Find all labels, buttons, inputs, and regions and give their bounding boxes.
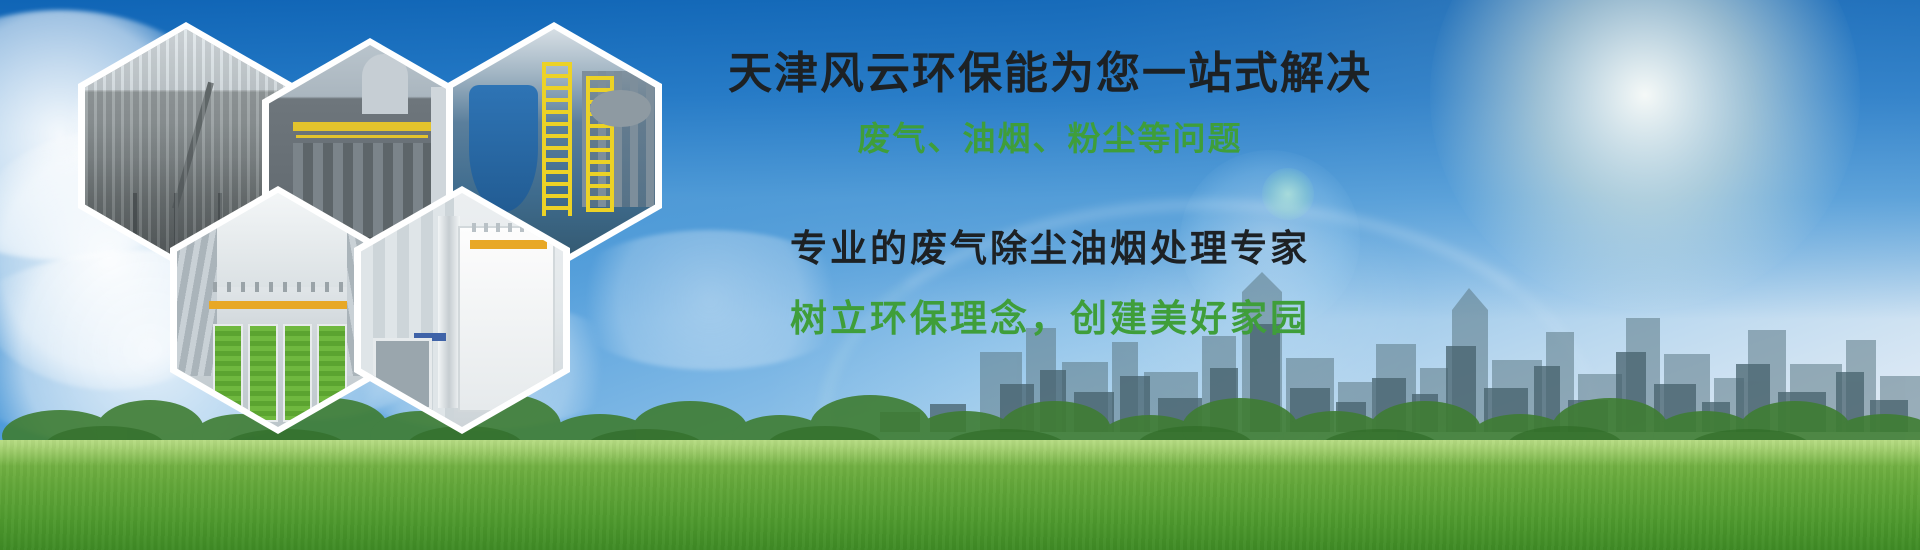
tagline-block: 专业的废气除尘油烟处理专家 树立环保理念，创建美好家园 [700, 218, 1400, 342]
tagline-secondary: 树立环保理念，创建美好家园 [700, 288, 1400, 342]
tagline-primary: 专业的废气除尘油烟处理专家 [700, 218, 1400, 272]
hex-photo-gallery [0, 0, 700, 420]
page-title: 天津风云环保能为您一站式解决 [700, 48, 1400, 100]
headline-block: 天津风云环保能为您一站式解决 废气、油烟、粉尘等问题 [700, 48, 1400, 160]
banner-hero: 天津风云环保能为您一站式解决 废气、油烟、粉尘等问题 专业的废气除尘油烟处理专家… [0, 0, 1920, 550]
page-subtitle: 废气、油烟、粉尘等问题 [700, 112, 1400, 160]
grass-field [0, 440, 1920, 550]
